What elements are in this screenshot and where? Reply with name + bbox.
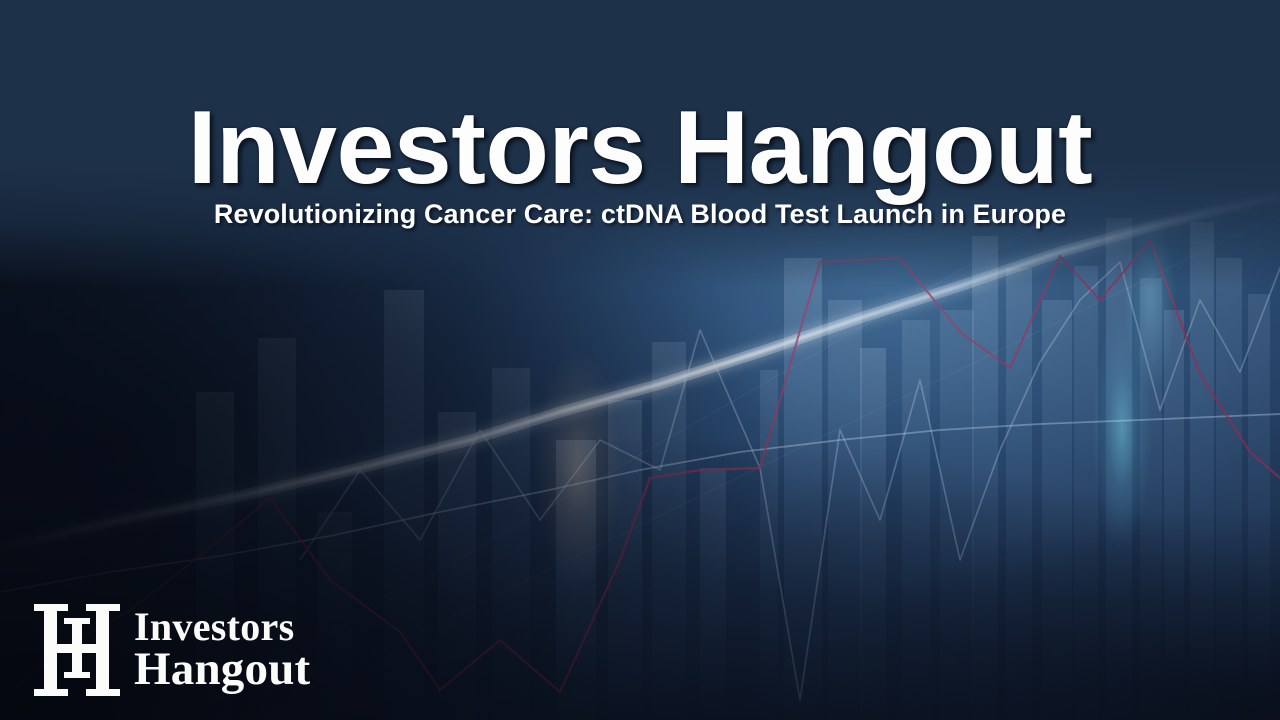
site-logo[interactable]: Investors Hangout — [28, 598, 310, 702]
logo-line-hangout: Hangout — [134, 647, 310, 692]
logo-line-investors: Investors — [134, 608, 310, 646]
page-subtitle: Revolutionizing Cancer Care: ctDNA Blood… — [0, 199, 1280, 230]
logo-wordmark: Investors Hangout — [134, 608, 310, 692]
page-title: Investors Hangout — [0, 92, 1280, 204]
ih-monogram-icon — [28, 598, 120, 702]
promo-banner: Investors Hangout Revolutionizing Cancer… — [0, 0, 1280, 720]
